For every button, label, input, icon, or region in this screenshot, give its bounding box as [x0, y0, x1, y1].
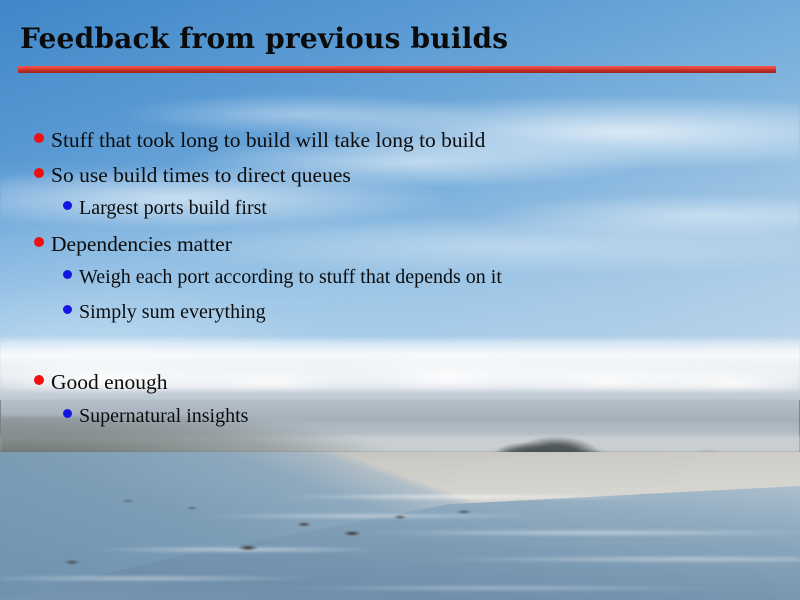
bullet-text: Dependencies matter	[51, 232, 232, 257]
bullet-text: Largest ports build first	[79, 197, 267, 220]
blue-bullet-icon	[63, 270, 72, 279]
shoreline-pebbles	[0, 492, 800, 582]
bullet-item-level1[interactable]: Good enough	[0, 370, 800, 405]
horizon-haze	[0, 436, 800, 476]
red-bullet-icon	[34, 375, 44, 385]
bullet-item-level1[interactable]: So use build times to direct queues	[0, 163, 800, 198]
bullet-spacer	[0, 336, 800, 371]
bullet-text: Good enough	[51, 370, 167, 395]
bullet-item-level2[interactable]: Weigh each port according to stuff that …	[0, 266, 800, 301]
sand-beach	[0, 452, 800, 600]
sand-texture	[0, 452, 800, 600]
wave-foam	[0, 480, 800, 600]
red-bullet-icon	[34, 133, 44, 143]
red-bullet-icon	[34, 237, 44, 247]
slide-title: Feedback from previous builds	[20, 22, 508, 55]
bullet-item-level2[interactable]: Supernatural insights	[0, 405, 800, 440]
presentation-slide: Feedback from previous builds Stuff that…	[0, 0, 800, 600]
ocean-shallows	[0, 486, 800, 600]
bullet-text: Weigh each port according to stuff that …	[79, 266, 502, 289]
bullet-item-level2[interactable]: Largest ports build first	[0, 197, 800, 232]
blue-bullet-icon	[63, 201, 72, 210]
bullet-text: Simply sum everything	[79, 301, 266, 324]
red-bullet-icon	[34, 168, 44, 178]
ocean-water	[0, 452, 800, 600]
blue-bullet-icon	[63, 305, 72, 314]
distant-sea-band	[0, 458, 800, 492]
bullet-text: So use build times to direct queues	[51, 163, 351, 188]
bullet-item-level1[interactable]: Stuff that took long to build will take …	[0, 128, 800, 163]
bullet-list: Stuff that took long to build will take …	[0, 128, 800, 439]
bullet-text: Supernatural insights	[79, 405, 248, 428]
blue-bullet-icon	[63, 409, 72, 418]
title-underline-rule	[18, 66, 776, 73]
bullet-item-level2[interactable]: Simply sum everything	[0, 301, 800, 336]
bullet-text: Stuff that took long to build will take …	[51, 128, 485, 153]
bullet-item-level1[interactable]: Dependencies matter	[0, 232, 800, 267]
